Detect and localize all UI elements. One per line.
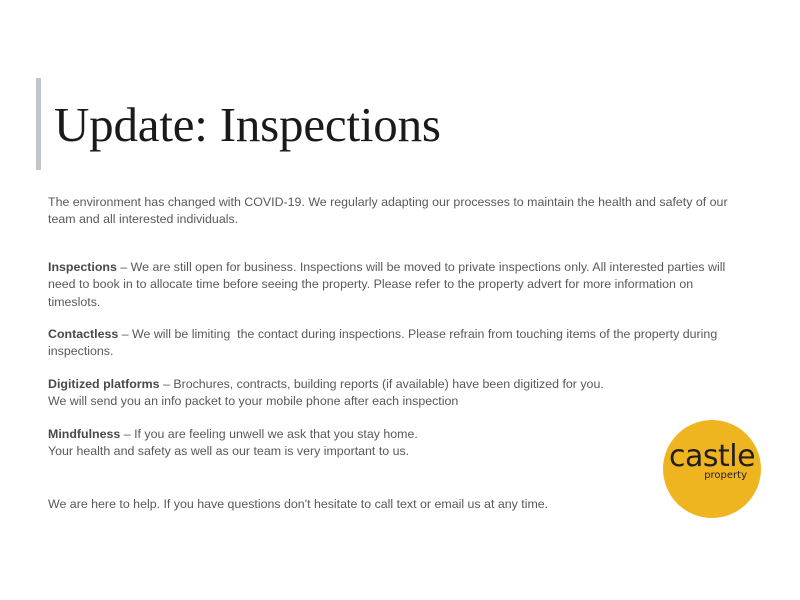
section-dash-digitized-platforms: – bbox=[160, 377, 174, 391]
section-digitized-platforms: Digitized platforms – Brochures, contrac… bbox=[48, 376, 734, 411]
section-lead-digitized-platforms: Digitized platforms bbox=[48, 377, 160, 391]
body-content: The environment has changed with COVID-1… bbox=[48, 194, 734, 514]
spacer-1 bbox=[48, 311, 734, 326]
spacer-before-closing bbox=[48, 460, 734, 496]
section-contactless: Contactless – We will be limiting the co… bbox=[48, 326, 734, 361]
spacer-after-intro bbox=[48, 229, 734, 259]
spacer-3 bbox=[48, 411, 734, 426]
spacer-2 bbox=[48, 361, 734, 376]
section-dash-inspections: – bbox=[117, 260, 131, 274]
title-block: Update: Inspections bbox=[36, 78, 441, 170]
logo-tagline: property bbox=[663, 470, 761, 481]
closing-paragraph: We are here to help. If you have questio… bbox=[48, 496, 734, 513]
section-body-contactless: We will be limiting the contact during i… bbox=[48, 327, 721, 358]
page-title: Update: Inspections bbox=[41, 100, 441, 149]
slide-canvas: Update: Inspections The environment has … bbox=[0, 0, 800, 600]
castle-property-logo: castle property bbox=[663, 420, 761, 518]
section-lead-contactless: Contactless bbox=[48, 327, 118, 341]
section-lead-mindfulness: Mindfulness bbox=[48, 427, 120, 441]
intro-paragraph: The environment has changed with COVID-1… bbox=[48, 194, 734, 229]
section-dash-mindfulness: – bbox=[120, 427, 134, 441]
section-lead-inspections: Inspections bbox=[48, 260, 117, 274]
section-body-inspections: We are still open for business. Inspecti… bbox=[48, 260, 729, 309]
section-mindfulness: Mindfulness – If you are feeling unwell … bbox=[48, 426, 734, 461]
section-inspections: Inspections – We are still open for busi… bbox=[48, 259, 734, 311]
logo-wordmark: castle bbox=[663, 442, 761, 472]
section-dash-contactless: – bbox=[118, 327, 132, 341]
